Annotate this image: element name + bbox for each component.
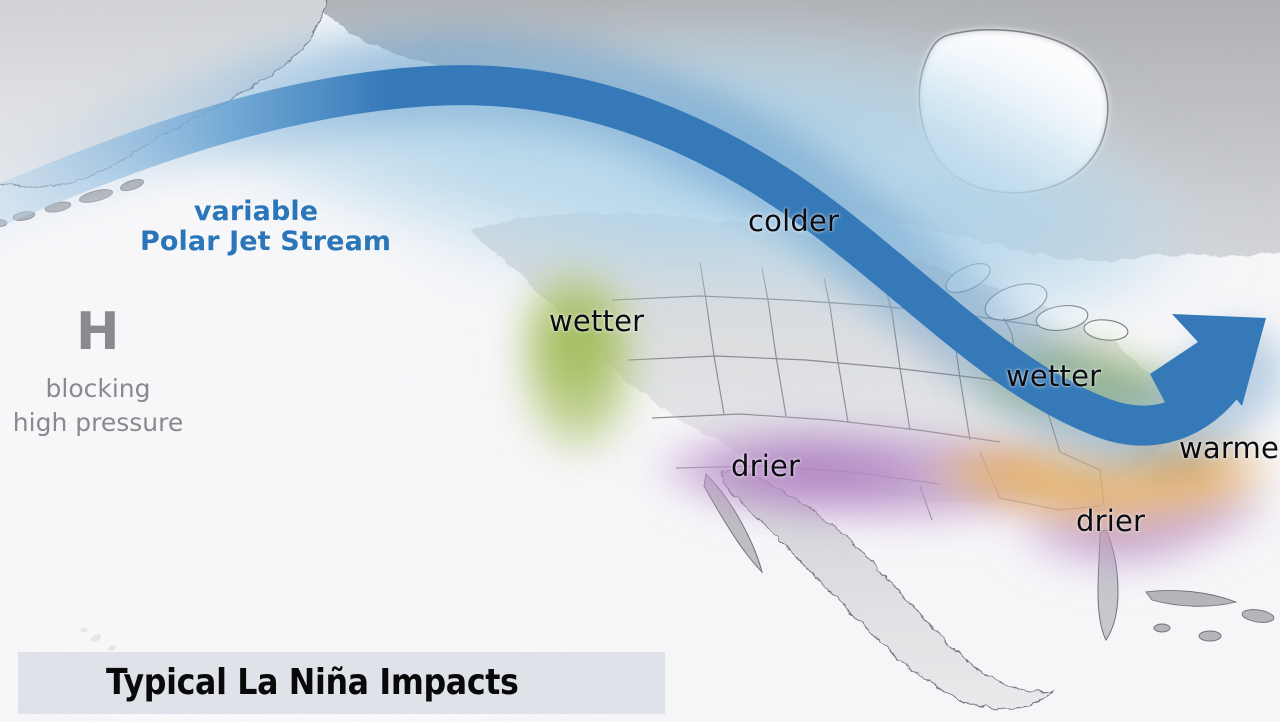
la-nina-impacts-infographic: colder wetter wetter drier drier warmer … [0,0,1280,722]
page-title: Typical La Niña Impacts [106,662,519,703]
north-america-map [0,0,1280,722]
